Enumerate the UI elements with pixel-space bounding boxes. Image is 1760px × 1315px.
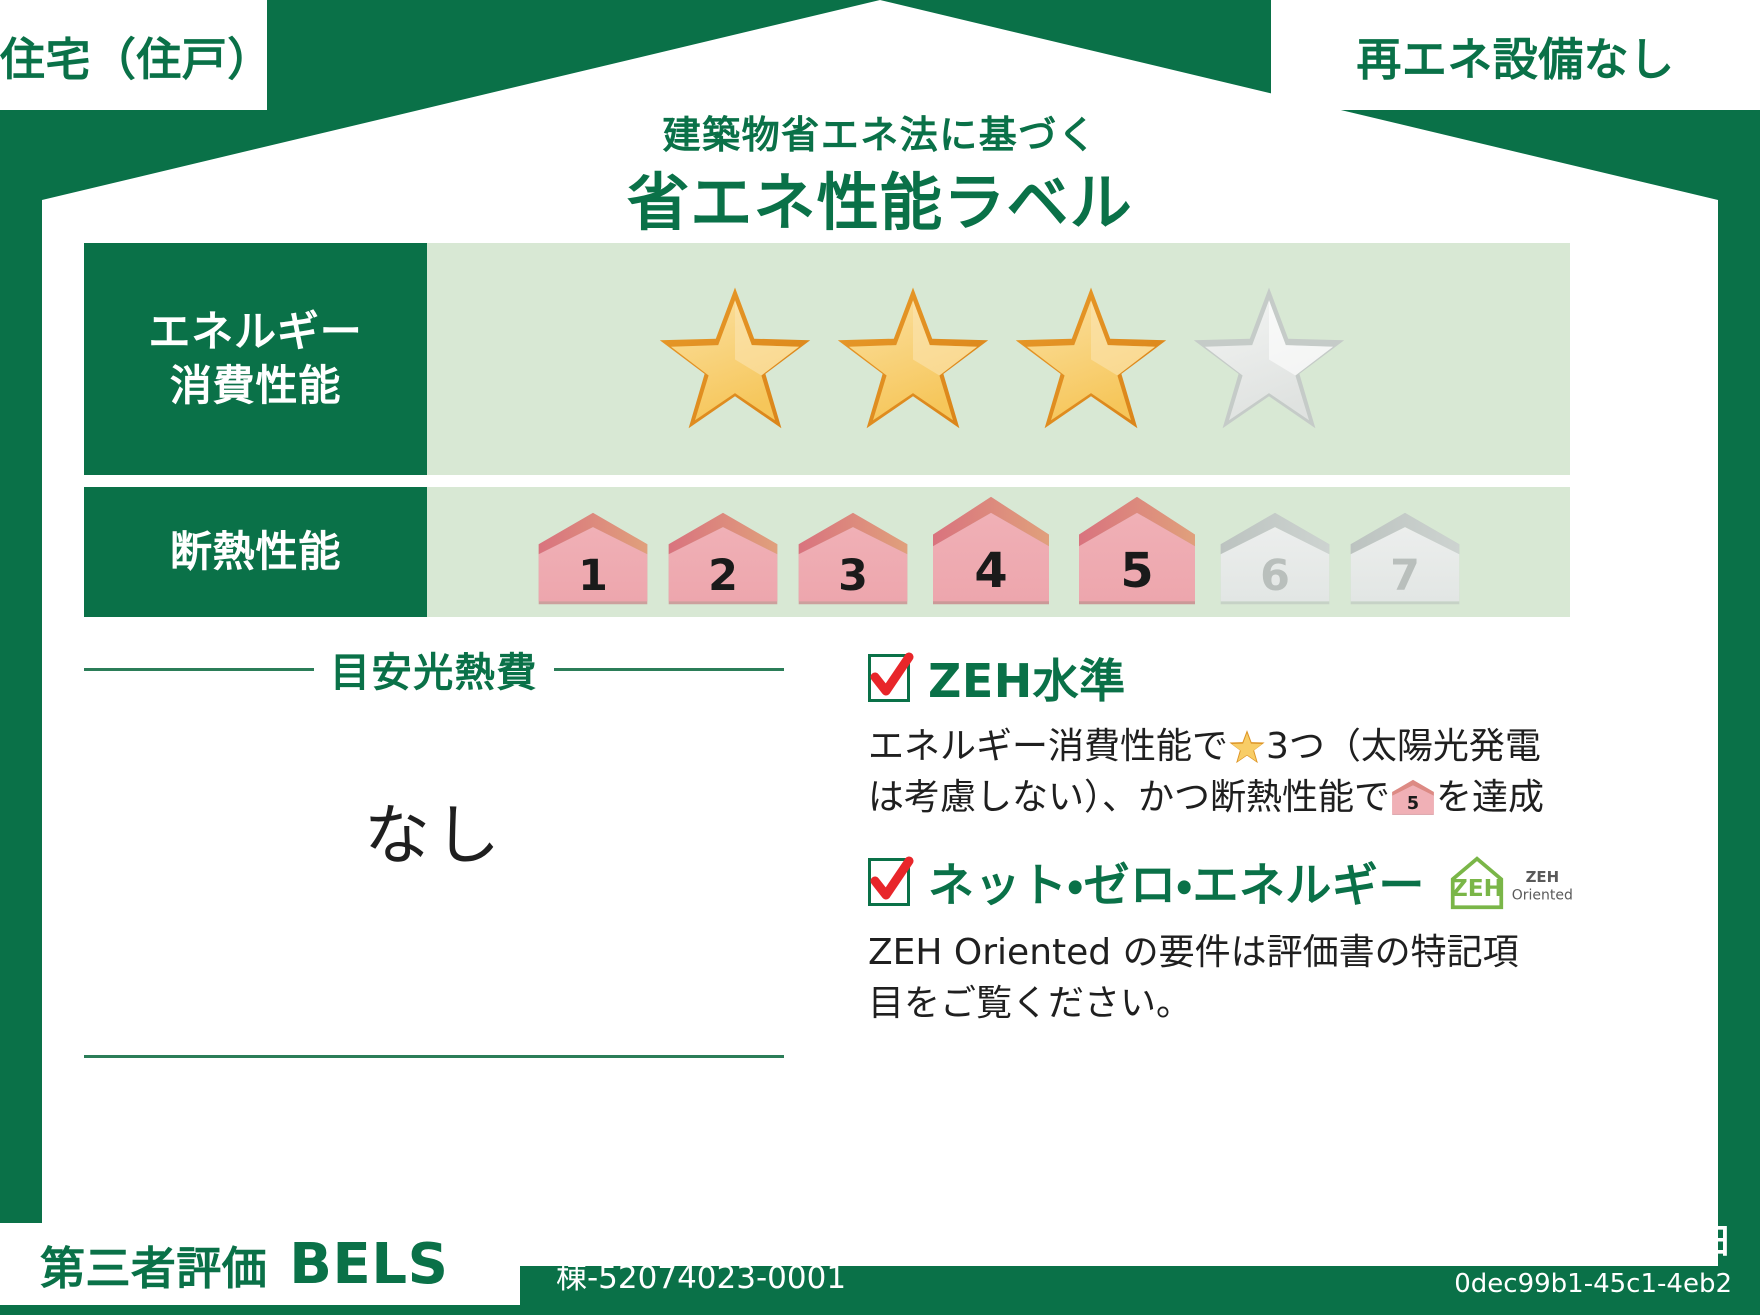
bels-badge: 第三者評価 BELS [0,1223,520,1305]
property-address: 札幌市東区北36条東10丁目2棟 1号棟-52074023-0001 [556,1220,1256,1299]
insulation-performance-value: 1 2 3 [427,487,1570,617]
bels-energy-label: 住宅（住戸） 再エネ設備なし 建築物省エネ法に基づく 省エネ性能ラベル エネルギ… [0,0,1760,1315]
insulation-grade-number: 3 [838,551,868,601]
renewable-equipment-tag: 再エネ設備なし [1271,0,1760,110]
zeh-block: ZEH水準 エネルギー消費性能で 3つ（太陽光発電 は考慮しない）、かつ断熱性能… [868,645,1568,1029]
insulation-performance-label-text: 断熱性能 [170,525,341,579]
insulation-grade-house-inactive: 6 [1212,510,1338,610]
net-zero-desc-line-2: 目をご覧ください。 [868,983,1192,1024]
insulation-grade-number: 6 [1260,551,1290,601]
insulation-performance-row: 断熱性能 [84,487,1570,617]
star-filled-icon [1011,282,1171,437]
rule-left [84,668,314,671]
insulation-grade-house-inactive: 7 [1342,510,1468,610]
insulation-performance-label: 断熱性能 [84,487,427,617]
zeh-logo-main-text: ZEH [1451,874,1503,902]
net-zero-energy-description: ZEH Oriented の要件は評価書の特記項 目をご覧ください。 [868,927,1568,1029]
third-party-evaluation-label: 第三者評価 [40,1232,267,1297]
building-type-tag-label: 住宅（住戸） [0,23,267,88]
insulation-grade-inline-icon: 5 [1390,778,1436,818]
energy-performance-value [427,243,1570,475]
checkbox-checked-icon[interactable] [868,858,910,906]
star-inline-icon [1228,729,1266,765]
insulation-grade-number: 2 [708,551,738,601]
star-filled-icon [833,282,993,437]
label-subtitle: 建築物省エネ法に基づく [0,104,1760,159]
insulation-grade-number: 7 [1390,551,1420,601]
star-rating [655,282,1349,437]
net-zero-energy-title: ネット・ゼロ・エネルギー [928,849,1425,915]
net-zero-desc-line-1: ZEH Oriented の要件は評価書の特記項 [868,932,1519,973]
insulation-grade-number: 4 [974,544,1007,599]
zeh-desc-part-2: 3つ（太陽光発電 [1266,726,1541,767]
rule-right [554,668,784,671]
evaluation-date: 評価日 2025年7月4日 [1374,1214,1732,1263]
zeh-standard-row: ZEH水準 [868,645,1568,711]
net-zero-energy-row: ネット・ゼロ・エネルギー ZEH ZEH Oriented [868,849,1568,915]
inline-grade-number: 5 [1407,794,1419,814]
utility-cost-bottom-rule [84,1055,784,1058]
insulation-grade-house: 1 [530,510,656,610]
insulation-grade-house: 4 [920,494,1062,610]
insulation-grade-scale: 1 2 3 [530,494,1468,610]
insulation-grade-house: 3 [790,510,916,610]
zeh-logo-sub2-text: Oriented [1512,888,1573,904]
utility-cost-title: 目安光熱費 [330,640,538,698]
zeh-standard-title: ZEH水準 [928,645,1126,711]
utility-cost-block: 目安光熱費 なし [84,640,784,878]
building-type-tag: 住宅（住戸） [0,0,267,110]
zeh-desc-part-1: エネルギー消費性能で [868,726,1228,767]
zeh-oriented-logo-icon: ZEH ZEH Oriented [1449,851,1589,913]
energy-performance-label-line2: 消費性能 [170,359,341,413]
star-empty-icon [1189,282,1349,437]
star-filled-icon [655,282,815,437]
insulation-grade-number: 5 [1120,544,1153,599]
zeh-desc-part-3: は考慮しない）、かつ断熱性能で [868,777,1390,818]
zeh-desc-part-4: を達成 [1436,777,1544,818]
zeh-logo-sub1-text: ZEH [1525,868,1559,886]
utility-cost-value: なし [84,782,784,878]
insulation-grade-house: 2 [660,510,786,610]
insulation-grade-number: 1 [578,551,608,601]
renewable-equipment-tag-label: 再エネ設備なし [1356,23,1674,88]
zeh-standard-description: エネルギー消費性能で 3つ（太陽光発電 は考慮しない）、かつ断熱性能で 5 を達… [868,721,1568,823]
energy-performance-row: エネルギー 消費性能 [84,243,1570,475]
bels-logo-text: BELS [289,1232,448,1297]
checkbox-checked-icon[interactable] [868,654,910,702]
document-id: 0dec99b1-45c1-4eb2 [1454,1269,1732,1299]
energy-performance-label: エネルギー 消費性能 [84,243,427,475]
footer: 第三者評価 BELS 札幌市東区北36条東10丁目2棟 1号棟-52074023… [0,1197,1760,1315]
label-title: 省エネ性能ラベル [0,152,1760,242]
insulation-grade-house-achieved: 5 [1066,494,1208,610]
utility-cost-header: 目安光熱費 [84,640,784,698]
energy-performance-label-line1: エネルギー [148,305,362,359]
